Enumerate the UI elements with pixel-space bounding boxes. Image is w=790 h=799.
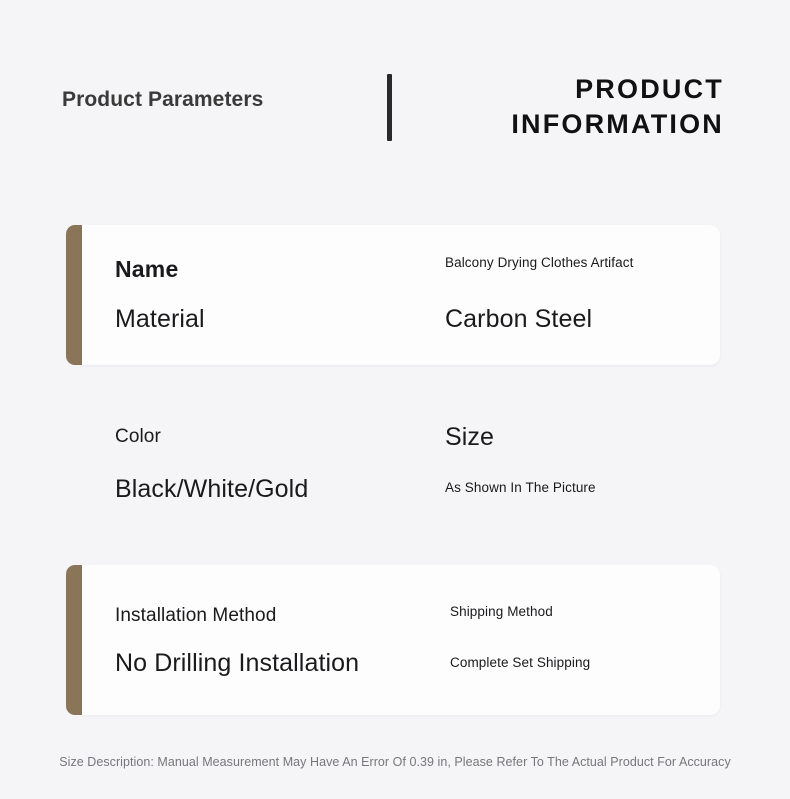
card-body: [82, 225, 720, 365]
spec-value-color: Black/White/Gold: [115, 475, 308, 504]
spec-card-3: Installation Method Shipping Method No D…: [66, 565, 720, 715]
spec-value-material: Carbon Steel: [445, 305, 592, 334]
spec-card-1: Name Balcony Drying Clothes Artifact Mat…: [66, 225, 720, 365]
accent-bar: [66, 565, 83, 715]
spec-value-name: Balcony Drying Clothes Artifact: [445, 255, 633, 270]
page-title-right: PRODUCT INFORMATION: [404, 72, 724, 142]
spec-value-installation-method: No Drilling Installation: [115, 649, 359, 678]
spec-row-2: Color Size Black/White/Gold As Shown In …: [66, 415, 720, 525]
spec-label-material: Material: [115, 305, 205, 334]
page-header: Product Parameters PRODUCT INFORMATION: [0, 60, 790, 170]
page-title-left: Product Parameters: [62, 88, 263, 112]
spec-value-size: As Shown In The Picture: [445, 480, 596, 495]
spec-label-shipping-method: Shipping Method: [450, 604, 553, 619]
spec-label-installation-method: Installation Method: [115, 605, 276, 627]
page-title-right-line1: PRODUCT: [404, 72, 724, 107]
accent-bar: [66, 225, 83, 365]
spec-value-shipping-method: Complete Set Shipping: [450, 655, 590, 670]
spec-label-name: Name: [115, 256, 178, 283]
card-body: [82, 565, 720, 715]
page-title-right-line2: INFORMATION: [404, 107, 724, 142]
header-divider: [387, 74, 392, 141]
spec-label-color: Color: [115, 426, 161, 448]
size-disclaimer: Size Description: Manual Measurement May…: [0, 755, 790, 769]
spec-label-size: Size: [445, 423, 494, 452]
